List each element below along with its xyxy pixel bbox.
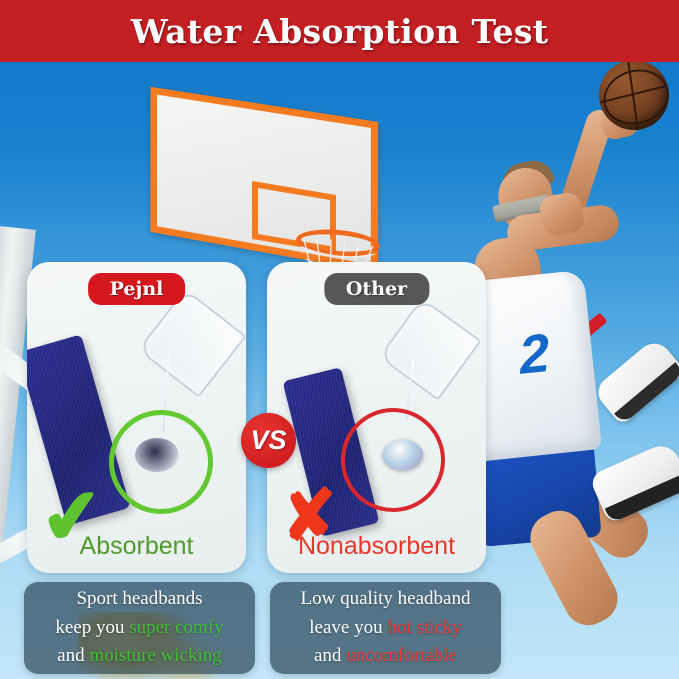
caption-line-2: keep you super comfy (55, 614, 223, 643)
caption-line-3-plain: and (57, 645, 89, 666)
caption-line-2-plain: keep you (55, 617, 129, 638)
caption-line-3: and moisture wicking (57, 642, 222, 671)
header-banner: Water Absorption Test (0, 0, 679, 62)
caption-brand: Sport headbands keep you super comfy and… (24, 582, 255, 674)
caption-row: Sport headbands keep you super comfy and… (0, 582, 679, 679)
promo-image: 2 Water Absorption Test ✔ Pejnl Absorben… (0, 0, 679, 679)
caption-line-1: Low quality headband (301, 585, 471, 614)
highlight-circle-nonabsorbent (341, 408, 445, 512)
caption-line-2-highlight: super comfy (129, 617, 223, 638)
caption-line-3: and uncomfortable (314, 642, 457, 671)
vs-badge: VS (241, 413, 296, 468)
panel-brand: ✔ Pejnl Absorbent (27, 262, 246, 573)
highlight-circle-absorbent (109, 410, 213, 514)
caption-line-3-highlight: moisture wicking (89, 645, 221, 666)
verdict-label-absorbent: Absorbent (27, 532, 246, 561)
brand-badge: Pejnl (88, 273, 186, 305)
vs-label: VS (250, 425, 286, 456)
caption-line-2-plain: leave you (309, 617, 387, 638)
other-badge: Other (324, 273, 429, 305)
basketball-hoop-assembly (148, 104, 388, 274)
water-glass-pouring-other (378, 297, 481, 400)
panel-other: ✘ Other Nonabsorbent (267, 262, 486, 573)
caption-other: Low quality headband leave you hot stick… (270, 582, 501, 674)
caption-line-1: Sport headbands (76, 585, 202, 614)
basketball-icon (599, 60, 669, 130)
page-title: Water Absorption Test (131, 12, 549, 51)
caption-line-2: leave you hot sticky (309, 614, 462, 643)
comparison-panels: ✔ Pejnl Absorbent ✘ Other Nonabsorbent (0, 262, 679, 582)
caption-line-3-highlight: uncomfortable (346, 645, 457, 666)
caption-line-3-plain: and (314, 645, 346, 666)
verdict-label-nonabsorbent: Nonabsorbent (267, 532, 486, 561)
caption-line-2-highlight: hot sticky (387, 617, 461, 638)
